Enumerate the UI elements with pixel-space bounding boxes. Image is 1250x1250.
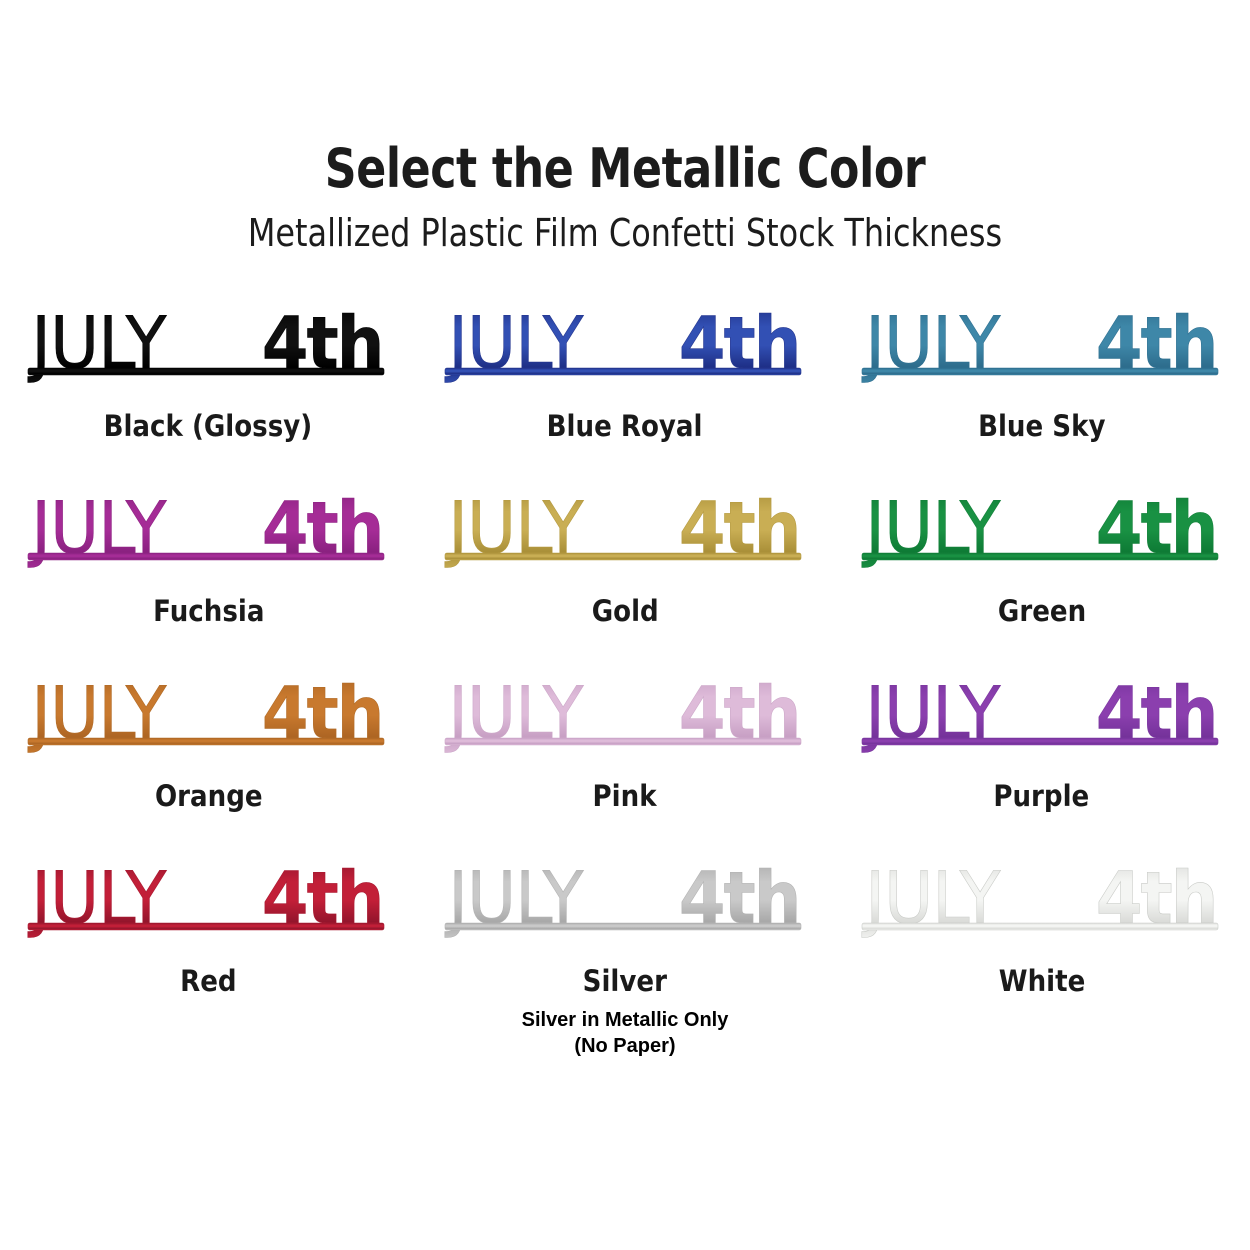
color-swatch-option[interactable]: JULY4thJULY4thBlack (Glossy) xyxy=(0,294,417,479)
page-title: Select the Metallic Color xyxy=(113,138,1138,200)
color-name-label: Green xyxy=(998,595,1086,627)
metallic-color-selector-page: Select the Metallic Color Metallized Pla… xyxy=(0,0,1250,1250)
color-swatch-option[interactable]: JULY4thJULY4thSilverSilver in Metallic O… xyxy=(417,849,834,1034)
confetti-shape: JULY4thJULY4th xyxy=(439,294,811,394)
confetti-shape: JULY4thJULY4th xyxy=(856,664,1228,764)
color-name-label: Orange xyxy=(154,780,262,812)
color-swatch-option[interactable]: JULY4thJULY4thPink xyxy=(417,664,834,849)
confetti-shape: JULY4thJULY4th xyxy=(22,849,394,949)
color-name-label: Blue Royal xyxy=(547,410,703,442)
color-swatch-option[interactable]: JULY4thJULY4thRed xyxy=(0,849,417,1034)
color-swatch-option[interactable]: JULY4thJULY4thBlue Royal xyxy=(417,294,834,479)
color-name-label: Silver xyxy=(583,965,667,997)
confetti-shape: JULY4thJULY4th xyxy=(856,294,1228,394)
color-swatch-option[interactable]: JULY4thJULY4thPurple xyxy=(833,664,1250,849)
confetti-shape: JULY4thJULY4th xyxy=(439,664,811,764)
color-swatch-grid: JULY4thJULY4thBlack (Glossy)JULY4thJULY4… xyxy=(0,294,1250,1034)
confetti-shape: JULY4thJULY4th xyxy=(856,479,1228,579)
header-block: Select the Metallic Color Metallized Pla… xyxy=(0,0,1250,256)
confetti-shape: JULY4thJULY4th xyxy=(439,849,811,949)
confetti-shape: JULY4thJULY4th xyxy=(22,294,394,394)
color-name-label: Blue Sky xyxy=(978,410,1105,442)
color-swatch-option[interactable]: JULY4thJULY4thWhite xyxy=(833,849,1250,1034)
note-line-2: (No Paper) xyxy=(522,1033,729,1059)
page-subtitle: Metallized Plastic Film Confetti Stock T… xyxy=(100,210,1150,256)
color-name-label: Fuchsia xyxy=(153,595,264,627)
color-name-label: Black (Glossy) xyxy=(104,410,313,442)
color-swatch-option[interactable]: JULY4thJULY4thBlue Sky xyxy=(833,294,1250,479)
color-name-label: Pink xyxy=(593,780,657,812)
color-name-label: Gold xyxy=(591,595,658,627)
color-name-label: Red xyxy=(180,965,236,997)
confetti-shape: JULY4thJULY4th xyxy=(22,664,394,764)
color-availability-note: Silver in Metallic Only(No Paper) xyxy=(522,1007,729,1059)
color-name-label: Purple xyxy=(994,780,1090,812)
color-swatch-option[interactable]: JULY4thJULY4thGreen xyxy=(833,479,1250,664)
confetti-shape: JULY4thJULY4th xyxy=(439,479,811,579)
color-swatch-option[interactable]: JULY4thJULY4thGold xyxy=(417,479,834,664)
color-swatch-option[interactable]: JULY4thJULY4thOrange xyxy=(0,664,417,849)
note-line-1: Silver in Metallic Only xyxy=(522,1007,729,1033)
color-name-label: White xyxy=(998,965,1084,997)
confetti-shape: JULY4thJULY4th xyxy=(856,849,1228,949)
color-swatch-option[interactable]: JULY4thJULY4thFuchsia xyxy=(0,479,417,664)
confetti-shape: JULY4thJULY4th xyxy=(22,479,394,579)
